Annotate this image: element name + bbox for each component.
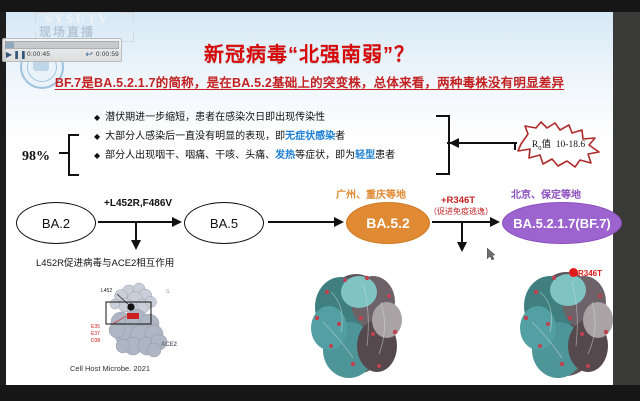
plain-text: 大部分人感染后一直没有明显的表现，即	[105, 131, 285, 142]
spike-structure-graphic-center	[301, 262, 411, 380]
slide-subtitle: BF.7是BA.5.2.1.7的简称，是在BA.5.2基础上的突变株，总体来看，…	[6, 72, 613, 91]
figure-label-e35: E35	[91, 324, 100, 330]
highlighted-term: 无症状感染	[285, 131, 335, 142]
spike-protein-center	[301, 262, 411, 380]
bullet-text: 大部分人感染后一直没有明显的表现，即无症状感染者	[105, 127, 345, 146]
plain-text: 患者	[375, 150, 395, 161]
r0-arrow-icon	[449, 136, 517, 150]
bullet-item: ◆大部分人感染后一直没有明显的表现，即无症状感染者	[94, 127, 454, 146]
r0-callout: R0值 10-18.6	[511, 120, 606, 168]
percent-brace-icon	[68, 134, 79, 176]
figure-label-e37: E37	[91, 331, 100, 337]
right-brace-icon	[436, 115, 450, 175]
bullet-text: 潜伏期进一步缩短，患者在感染次日即出现传染性	[105, 108, 325, 127]
r346t-label: R346T	[578, 269, 602, 278]
figure-citation: Cell Host Microbe. 2021	[70, 364, 150, 373]
bullet-item: ◆潜伏期进一步缩短，患者在感染次日即出现传染性	[94, 108, 454, 127]
ace2-structure-graphic	[81, 280, 193, 362]
plain-text: 部分人出现咽干、咽痛、干咳、头痛、	[105, 150, 275, 161]
letterbox-bottom	[0, 385, 640, 401]
r0-tail: 值	[542, 140, 552, 150]
highlighted-term: 轻型	[355, 150, 375, 161]
percent-label: 98%	[22, 149, 50, 165]
spike-protein-right	[512, 260, 620, 380]
spike-structure-graphic-right	[512, 260, 620, 380]
logo-bracket-top-right-icon	[121, 12, 134, 22]
bullet-item: ◆部分人出现咽干、咽痛、干咳、头痛、发热等症状，即为轻型患者	[94, 146, 454, 165]
r0-value: 10-18.6	[556, 140, 585, 150]
mouse-cursor-icon	[487, 248, 495, 260]
slide-title: 新冠病毒“北强南弱”？	[6, 38, 613, 67]
presentation-slide: SYSUTV 现场直播 ▶ ❚❚ 0:00:45 ↩ 0:00:59 新冠病毒“…	[6, 12, 613, 385]
plain-text: 者	[335, 131, 345, 142]
figure-label-s: S	[166, 289, 169, 295]
bullet-diamond-icon: ◆	[94, 108, 100, 127]
screenshot-root: SYSUTV 现场直播 ▶ ❚❚ 0:00:45 ↩ 0:00:59 新冠病毒“…	[0, 0, 640, 401]
figure-ace2-complex: L452 S E35 E37 D38 ACE2	[81, 280, 193, 362]
bullet-diamond-icon: ◆	[94, 127, 100, 146]
figure-label-d38: D38	[91, 338, 100, 344]
figure-label-l452: L452	[101, 288, 112, 294]
bullet-diamond-icon: ◆	[94, 146, 100, 165]
r346t-marker-dot	[569, 268, 578, 277]
plain-text: 潜伏期进一步缩短，患者在感染次日即出现传染性	[105, 112, 325, 123]
r0-value-label: R0值 10-18.6	[511, 136, 606, 152]
plain-text: 等症状，即为	[295, 150, 355, 161]
bullet-text: 部分人出现咽干、咽痛、干咳、头痛、发热等症状，即为轻型患者	[105, 146, 395, 165]
figure-label-ace2: ACE2	[161, 342, 177, 348]
highlighted-term: 发热	[275, 150, 295, 161]
bullet-list: ◆潜伏期进一步缩短，患者在感染次日即出现传染性◆大部分人感染后一直没有明显的表现…	[94, 108, 454, 165]
